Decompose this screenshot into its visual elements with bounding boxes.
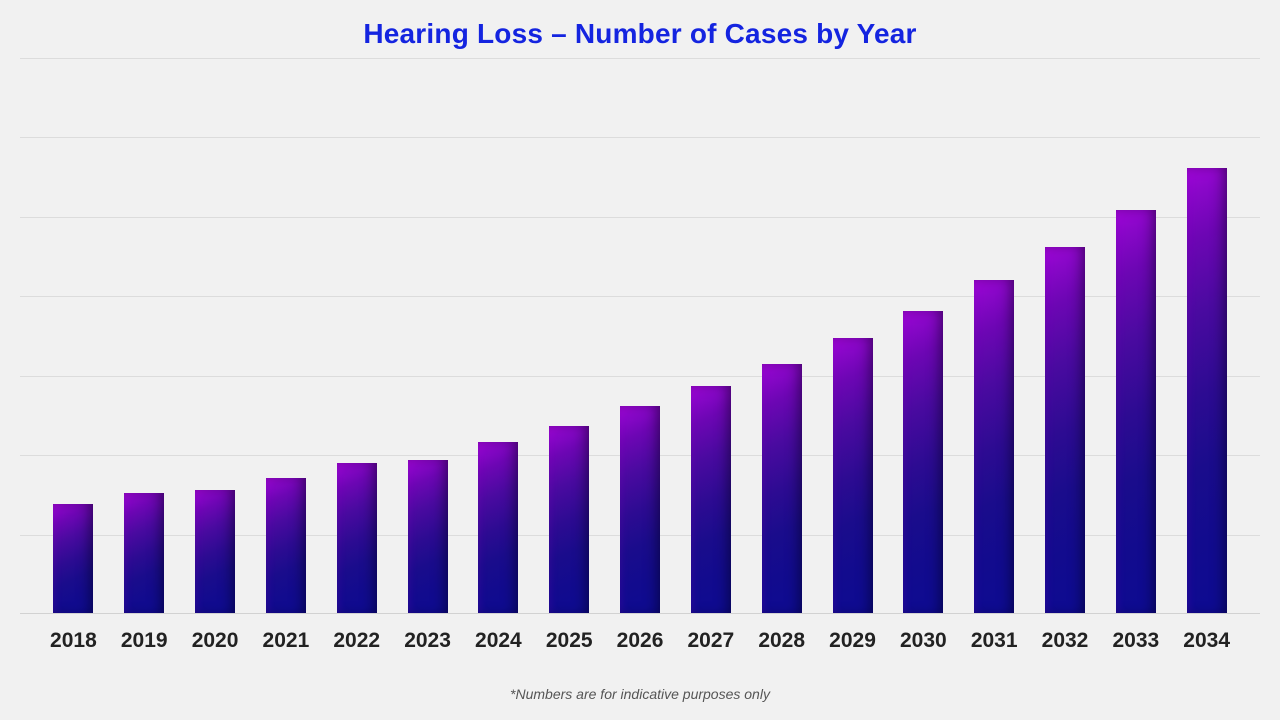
bar-slot [1171, 58, 1242, 614]
bar-2034[interactable] [1187, 168, 1227, 614]
bar-2028[interactable] [762, 364, 802, 614]
bar-2025[interactable] [549, 426, 589, 614]
bar-2033[interactable] [1116, 210, 1156, 614]
x-tick-label-2026: 2026 [605, 624, 676, 660]
x-tick-label-2018: 2018 [38, 624, 109, 660]
bar-2029[interactable] [833, 338, 873, 614]
footnote: *Numbers are for indicative purposes onl… [0, 686, 1280, 702]
bar-slot [38, 58, 109, 614]
plot-area [20, 58, 1260, 614]
x-tick-label-2028: 2028 [746, 624, 817, 660]
bar-slot [534, 58, 605, 614]
x-tick-label-2033: 2033 [1100, 624, 1171, 660]
x-tick-label-2030: 2030 [888, 624, 959, 660]
bar-2021[interactable] [266, 478, 306, 614]
bar-slot [817, 58, 888, 614]
x-tick-label-2034: 2034 [1171, 624, 1242, 660]
bar-slot [392, 58, 463, 614]
x-tick-label-2020: 2020 [180, 624, 251, 660]
bar-slot [463, 58, 534, 614]
bar-2018[interactable] [53, 504, 93, 614]
bar-slot [180, 58, 251, 614]
bar-2023[interactable] [408, 460, 448, 614]
bar-2019[interactable] [124, 493, 164, 614]
chart-container: Hearing Loss – Number of Cases by Year 2… [0, 0, 1280, 720]
bar-slot [321, 58, 392, 614]
bar-2026[interactable] [620, 406, 660, 615]
x-axis-labels: 2018201920202021202220232024202520262027… [20, 624, 1260, 660]
x-tick-label-2022: 2022 [321, 624, 392, 660]
bar-series [20, 58, 1260, 614]
bar-2020[interactable] [195, 490, 235, 614]
x-axis-line [20, 613, 1260, 614]
x-tick-label-2019: 2019 [109, 624, 180, 660]
bar-slot [1100, 58, 1171, 614]
bar-slot [250, 58, 321, 614]
bar-slot [746, 58, 817, 614]
bar-slot [888, 58, 959, 614]
bar-2031[interactable] [974, 280, 1014, 614]
x-tick-label-2027: 2027 [675, 624, 746, 660]
x-tick-label-2032: 2032 [1030, 624, 1101, 660]
bar-2027[interactable] [691, 386, 731, 614]
bar-2022[interactable] [337, 463, 377, 614]
x-tick-label-2029: 2029 [817, 624, 888, 660]
bar-slot [675, 58, 746, 614]
x-tick-label-2024: 2024 [463, 624, 534, 660]
bar-slot [1030, 58, 1101, 614]
bar-slot [109, 58, 180, 614]
x-tick-label-2031: 2031 [959, 624, 1030, 660]
bar-slot [605, 58, 676, 614]
bar-2032[interactable] [1045, 247, 1085, 614]
page-title: Hearing Loss – Number of Cases by Year [0, 18, 1280, 50]
bar-slot [959, 58, 1030, 614]
x-tick-label-2023: 2023 [392, 624, 463, 660]
bar-2030[interactable] [903, 311, 943, 614]
x-tick-label-2021: 2021 [250, 624, 321, 660]
x-tick-label-2025: 2025 [534, 624, 605, 660]
bar-2024[interactable] [478, 442, 518, 614]
